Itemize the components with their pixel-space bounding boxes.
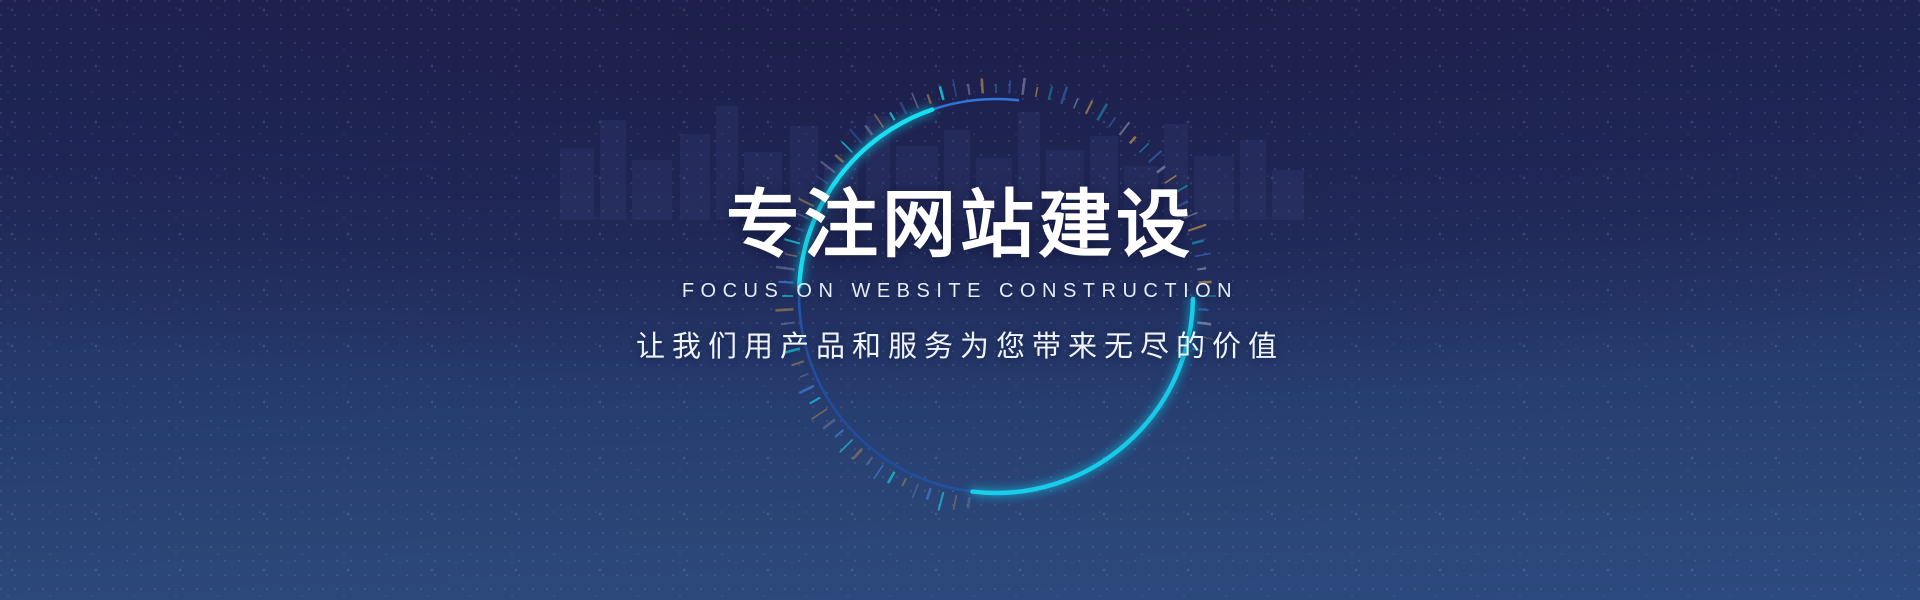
hero-banner: 专注网站建设 FOCUS ON WEBSITE CONSTRUCTION 让我们… <box>0 0 1920 600</box>
banner-content: 专注网站建设 FOCUS ON WEBSITE CONSTRUCTION 让我们… <box>0 186 1920 365</box>
banner-tagline: 让我们用产品和服务为您带来无尽的价值 <box>0 323 1920 365</box>
banner-title: 专注网站建设 <box>0 186 1920 264</box>
banner-subtitle: FOCUS ON WEBSITE CONSTRUCTION <box>0 280 1920 303</box>
